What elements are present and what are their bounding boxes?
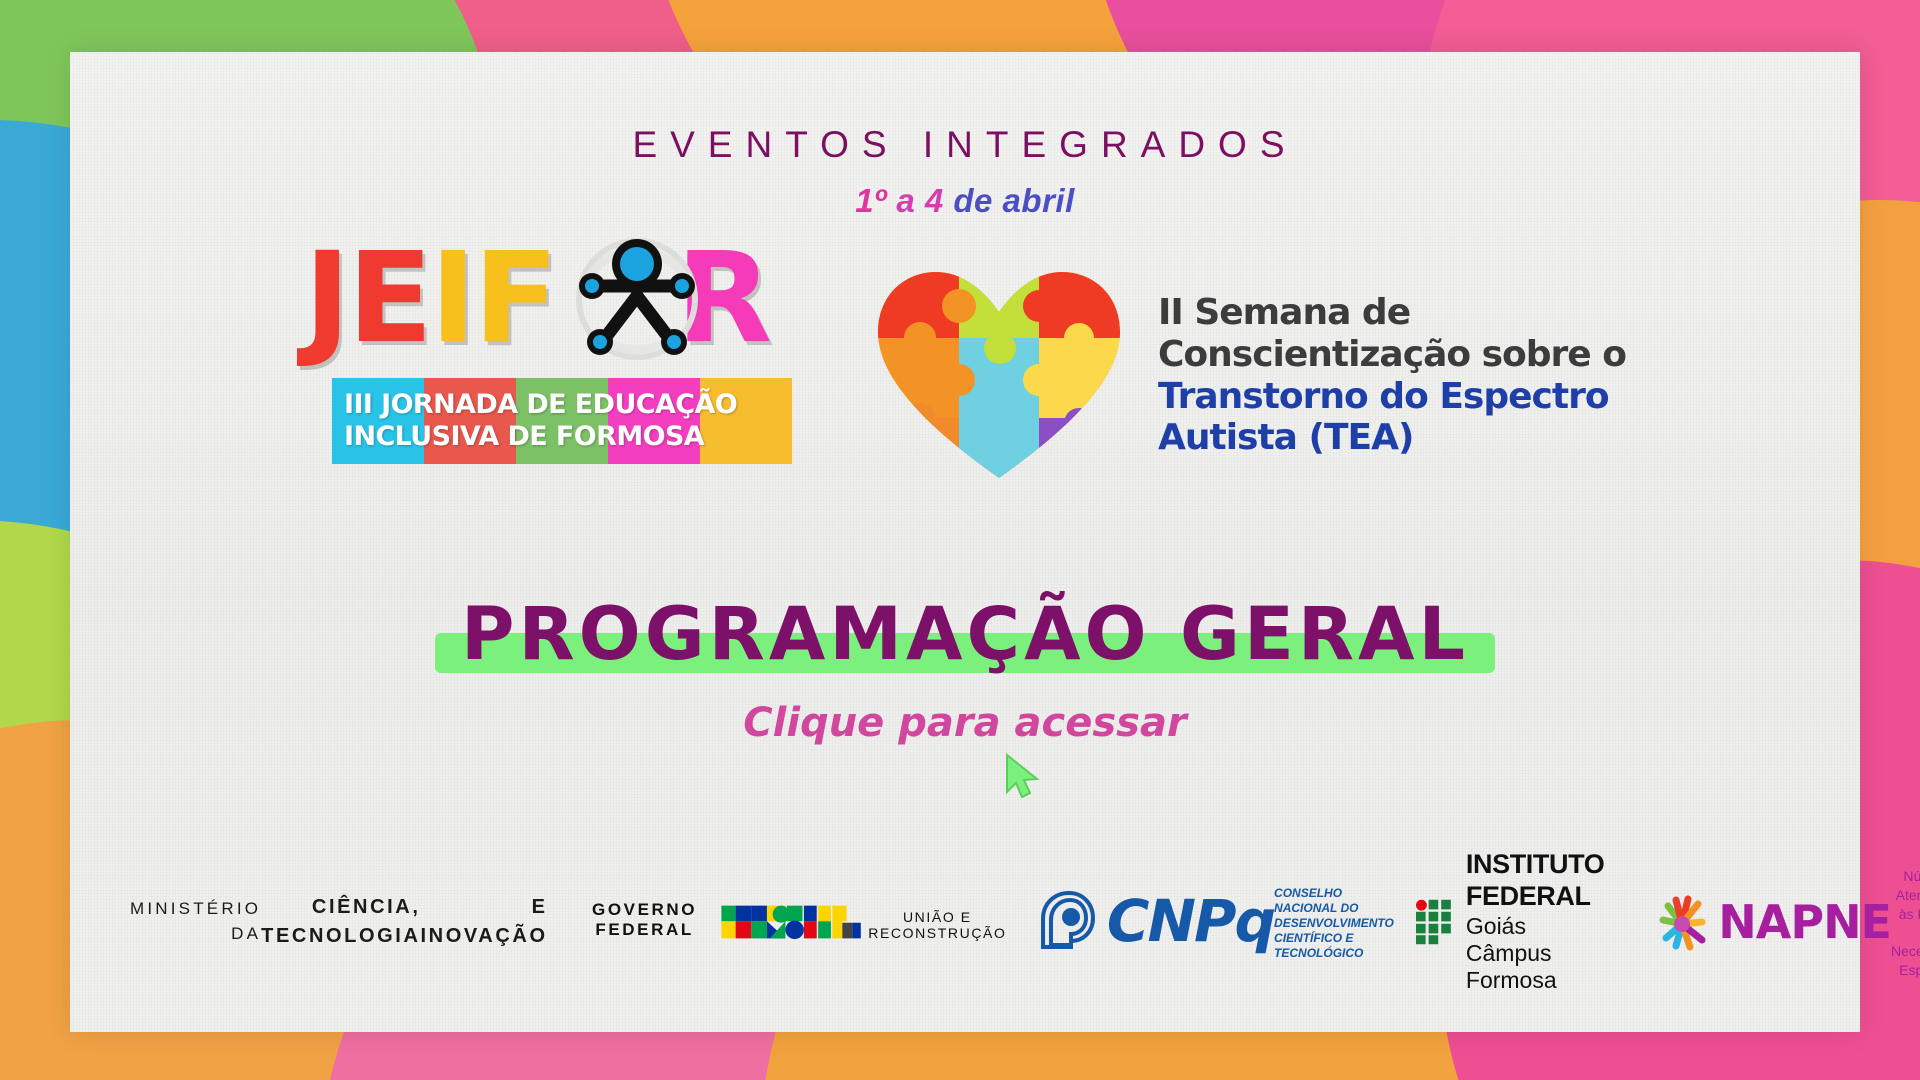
jeifor-letter-i: I <box>430 236 474 361</box>
governo-federal-tagline: UNIÃO E RECONSTRUÇÃO <box>862 909 1013 941</box>
napne-sub-line1: Núcleo de Atendimento às Pessoas <box>1891 867 1920 924</box>
napne-logo: NAPNE Núcleo de Atendimento às Pessoas c… <box>1650 864 1920 980</box>
ifg-line2: Goiás <box>1466 913 1628 940</box>
brasil-wordmark-icon <box>720 891 862 953</box>
programacao-cta[interactable]: PROGRAMAÇÃO GERAL <box>70 592 1860 677</box>
tea-line3: Transtorno do Espectro <box>1158 376 1626 418</box>
tea-line1: II Semana de <box>1158 292 1626 334</box>
person-accessibility-icon <box>572 234 702 364</box>
jeifor-subtitle-line2: INCLUSIVA DE FORMOSA <box>344 421 792 453</box>
cnpq-sub-line2: CIENTÍFICO E TECNOLÓGICO <box>1274 931 1394 961</box>
cnpq-sub-line1: CONSELHO NACIONAL DO DESENVOLVIMENTO <box>1274 886 1394 931</box>
governo-federal-logo: GOVERNO FEDERAL <box>570 891 1013 953</box>
event-date: 1º a 4 de abril <box>70 182 1860 220</box>
cnpq-wordmark: CNPq <box>1107 894 1274 949</box>
tea-line2: Conscientização sobre o <box>1158 334 1626 376</box>
jeifor-logo: J E I F R <box>304 228 814 473</box>
logo-row: J E I F R <box>70 228 1860 473</box>
ifg-line1: INSTITUTO FEDERAL <box>1466 849 1628 913</box>
mouse-cursor-icon <box>1002 752 1046 802</box>
jeifor-subtitle: III JORNADA DE EDUCAÇÃO INCLUSIVA DE FOR… <box>332 378 792 464</box>
cnpq-head-icon <box>1035 889 1101 955</box>
governo-federal-label: GOVERNO FEDERAL <box>570 900 720 940</box>
jeifor-letter-j: J <box>304 236 348 361</box>
mcti-line3: E INOVAÇÃO <box>421 893 548 951</box>
mcti-line2: CIÊNCIA, TECNOLOGIA <box>261 893 420 951</box>
poster-card: EVENTOS INTEGRADOS 1º a 4 de abril J E I… <box>70 52 1860 1032</box>
jeifor-wordmark: J E I F R <box>304 228 814 368</box>
click-to-access-label: Clique para acessar <box>70 700 1860 746</box>
ifg-line3: Câmpus Formosa <box>1466 940 1628 994</box>
event-date-part1: 1º <box>855 182 886 219</box>
cnpq-mark-row: CNPq <box>1035 889 1274 955</box>
mcti-line1: MINISTÉRIO DA <box>130 897 261 946</box>
napne-sub-line2: com Necessidades Específicas <box>1891 924 1920 981</box>
tea-line4: Autista (TEA) <box>1158 417 1626 459</box>
cnpq-logo: CNPq CONSELHO NACIONAL DO DESENVOLVIMENT… <box>1035 884 1394 961</box>
instituto-federal-logo: INSTITUTO FEDERAL Goiás Câmpus Formosa <box>1416 849 1628 994</box>
jeifor-letter-e: E <box>348 236 430 361</box>
jeifor-letter-f: F <box>473 236 555 361</box>
sponsor-logo-row: MINISTÉRIO DA CIÊNCIA, TECNOLOGIA E INOV… <box>130 852 1800 992</box>
tea-logo: II Semana de Conscientização sobre o Tra… <box>874 268 1626 483</box>
event-date-part2: a 4 <box>896 182 943 219</box>
event-kicker: EVENTOS INTEGRADOS <box>70 124 1860 166</box>
programacao-geral-title[interactable]: PROGRAMAÇÃO GERAL <box>435 592 1495 677</box>
instituto-federal-text: INSTITUTO FEDERAL Goiás Câmpus Formosa <box>1466 849 1628 994</box>
event-date-part3: de abril <box>953 182 1074 219</box>
poster-background: EVENTOS INTEGRADOS 1º a 4 de abril J E I… <box>0 0 1920 1080</box>
mcti-logo: MINISTÉRIO DA CIÊNCIA, TECNOLOGIA E INOV… <box>130 893 548 951</box>
cnpq-subtitle: CONSELHO NACIONAL DO DESENVOLVIMENTO CIE… <box>1274 886 1394 961</box>
instituto-federal-grid-icon <box>1416 885 1452 959</box>
hands-icon <box>1650 890 1714 954</box>
napne-mark-row: NAPNE <box>1650 890 1891 954</box>
jeifor-subtitle-line1: III JORNADA DE EDUCAÇÃO <box>344 389 792 421</box>
napne-subtitle: Núcleo de Atendimento às Pessoas com Nec… <box>1891 867 1920 980</box>
napne-wordmark: NAPNE <box>1718 895 1891 949</box>
puzzle-heart-icon <box>874 268 1124 483</box>
tea-title: II Semana de Conscientização sobre o Tra… <box>1158 292 1626 459</box>
